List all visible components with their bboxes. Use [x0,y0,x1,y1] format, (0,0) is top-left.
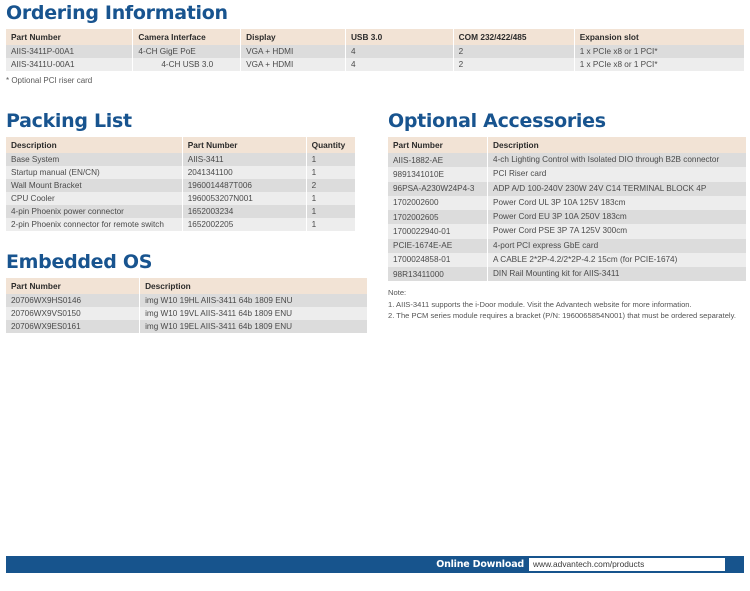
cell-description: Base System [6,153,182,166]
cell-description: PCI Riser card [488,167,746,181]
cell-description: img W10 19EL AIIS-3411 64b 1809 ENU [140,320,367,333]
table-row: Wall Mount Bracket 1960014487T006 2 [6,179,355,192]
column-header-camera-interface: Camera Interface [133,29,241,45]
table-row: 1700024858-01 A CABLE 2*2P-4.2/2*2P-4.2 … [388,253,746,267]
cell-description: ADP A/D 100-240V 230W 24V C14 TERMINAL B… [488,182,746,196]
cell-description: Power Cord PSE 3P 7A 125V 300cm [488,224,746,238]
cell-com: 2 [453,45,574,58]
cell-part-number: 1960053207N001 [182,192,306,205]
cell-description: 2-pin Phoenix connector for remote switc… [6,218,182,231]
cell-part-number: 98R13411000 [388,267,488,281]
cell-part-number: 96PSA-A230W24P4-3 [388,182,488,196]
online-download-label: Online Download [436,559,524,570]
ordering-footnote: * Optional PCI riser card [6,76,744,85]
cell-description: Power Cord EU 3P 10A 250V 183cm [488,210,746,224]
table-row: 20706WX9ES0161 img W10 19EL AIIS-3411 64… [6,320,367,333]
cell-part-number: 1700024858-01 [388,253,488,267]
cell-part-number: 1652003234 [182,205,306,218]
table-row: 1700022940-01 Power Cord PSE 3P 7A 125V … [388,224,746,238]
packing-list-title: Packing List [6,112,355,131]
optional-accessories-section: Optional Accessories Part Number Descrip… [388,112,746,321]
cell-camera-interface: 4-CH USB 3.0 [133,58,241,71]
cell-quantity: 1 [306,166,355,179]
cell-part-number: 2041341100 [182,166,306,179]
packing-list-section: Packing List Description Part Number Qua… [6,112,355,231]
cell-description: A CABLE 2*2P-4.2/2*2P-4.2 15cm (for PCIE… [488,253,746,267]
column-header-description: Description [488,137,746,153]
optional-accessories-table: Part Number Description AIIS-1882-AE 4-c… [388,137,746,281]
column-header-part-number: Part Number [6,278,140,294]
cell-description: 4-port PCI express GbE card [488,239,746,253]
cell-expansion-slot: 1 x PCIe x8 or 1 PCI* [574,45,744,58]
table-row: 9891341010E PCI Riser card [388,167,746,181]
cell-description: CPU Cooler [6,192,182,205]
cell-part-number: 1702002605 [388,210,488,224]
cell-part-number: 1960014487T006 [182,179,306,192]
cell-part-number: 20706WX9ES0161 [6,320,140,333]
cell-description: 4-ch Lighting Control with Isolated DIO … [488,153,746,167]
table-header-row: Part Number Description [388,137,746,153]
column-header-usb: USB 3.0 [345,29,453,45]
cell-display: VGA + HDMI [241,58,346,71]
datasheet-page: Ordering Information Part Number Camera … [0,0,750,591]
table-row: 1702002605 Power Cord EU 3P 10A 250V 183… [388,210,746,224]
cell-part-number: PCIE-1674E-AE [388,239,488,253]
cell-part-number: 1652002205 [182,218,306,231]
notes-label: Note: [388,287,746,298]
online-download-url[interactable]: www.advantech.com/products [529,558,725,571]
footer-bar: Online Download www.advantech.com/produc… [6,556,744,573]
column-header-part-number: Part Number [6,29,133,45]
column-header-description: Description [140,278,367,294]
column-header-part-number: Part Number [388,137,488,153]
packing-list-table: Description Part Number Quantity Base Sy… [6,137,355,231]
cell-quantity: 1 [306,153,355,166]
note-item-2: 2. The PCM series module requires a brac… [388,310,746,321]
cell-part-number: AIIS-3411U-00A1 [6,58,133,71]
column-header-display: Display [241,29,346,45]
table-row: PCIE-1674E-AE 4-port PCI express GbE car… [388,239,746,253]
cell-quantity: 1 [306,205,355,218]
cell-expansion-slot: 1 x PCIe x8 or 1 PCI* [574,58,744,71]
table-header-row: Part Number Description [6,278,367,294]
optional-accessories-title: Optional Accessories [388,112,746,131]
table-row: 20706WX9HS0146 img W10 19HL AIIS-3411 64… [6,294,367,307]
cell-quantity: 1 [306,218,355,231]
table-header-row: Part Number Camera Interface Display USB… [6,29,744,45]
accessories-notes: Note: 1. AIIS-3411 supports the i-Door m… [388,287,746,321]
cell-part-number: AIIS-3411P-00A1 [6,45,133,58]
ordering-information-section: Ordering Information Part Number Camera … [6,4,744,85]
note-item-1: 1. AIIS-3411 supports the i-Door module.… [388,299,746,310]
cell-display: VGA + HDMI [241,45,346,58]
cell-part-number: 1702002600 [388,196,488,210]
table-header-row: Description Part Number Quantity [6,137,355,153]
ordering-information-title: Ordering Information [6,4,744,23]
cell-usb: 4 [345,45,453,58]
column-header-com: COM 232/422/485 [453,29,574,45]
cell-description: DIN Rail Mounting kit for AIIS-3411 [488,267,746,281]
embedded-os-title: Embedded OS [6,253,367,272]
cell-part-number: 1700022940-01 [388,224,488,238]
cell-part-number: AIIS-1882-AE [388,153,488,167]
cell-part-number: 20706WX9HS0146 [6,294,140,307]
cell-description: img W10 19HL AIIS-3411 64b 1809 ENU [140,294,367,307]
table-row: 2-pin Phoenix connector for remote switc… [6,218,355,231]
cell-part-number: 20706WX9VS0150 [6,307,140,320]
table-row: Startup manual (EN/CN) 2041341100 1 [6,166,355,179]
cell-quantity: 2 [306,179,355,192]
column-header-description: Description [6,137,182,153]
cell-quantity: 1 [306,192,355,205]
table-row: 1702002600 Power Cord UL 3P 10A 125V 183… [388,196,746,210]
table-row: 20706WX9VS0150 img W10 19VL AIIS-3411 64… [6,307,367,320]
table-row: CPU Cooler 1960053207N001 1 [6,192,355,205]
cell-description: img W10 19VL AIIS-3411 64b 1809 ENU [140,307,367,320]
column-header-part-number: Part Number [182,137,306,153]
table-row: AIIS-1882-AE 4-ch Lighting Control with … [388,153,746,167]
cell-description: Power Cord UL 3P 10A 125V 183cm [488,196,746,210]
cell-camera-interface: 4-CH GigE PoE [133,45,241,58]
cell-description: 4-pin Phoenix power connector [6,205,182,218]
embedded-os-table: Part Number Description 20706WX9HS0146 i… [6,278,367,333]
table-row: AIIS-3411U-00A1 4-CH USB 3.0 VGA + HDMI … [6,58,744,71]
cell-description: Wall Mount Bracket [6,179,182,192]
ordering-information-table: Part Number Camera Interface Display USB… [6,29,744,71]
embedded-os-section: Embedded OS Part Number Description 2070… [6,253,367,333]
cell-usb: 4 [345,58,453,71]
cell-part-number: AIIS-3411 [182,153,306,166]
table-row: AIIS-3411P-00A1 4-CH GigE PoE VGA + HDMI… [6,45,744,58]
table-row: 96PSA-A230W24P4-3 ADP A/D 100-240V 230W … [388,182,746,196]
column-header-quantity: Quantity [306,137,355,153]
table-row: 4-pin Phoenix power connector 1652003234… [6,205,355,218]
column-header-expansion-slot: Expansion slot [574,29,744,45]
cell-description: Startup manual (EN/CN) [6,166,182,179]
table-row: Base System AIIS-3411 1 [6,153,355,166]
cell-com: 2 [453,58,574,71]
cell-part-number: 9891341010E [388,167,488,181]
table-row: 98R13411000 DIN Rail Mounting kit for AI… [388,267,746,281]
